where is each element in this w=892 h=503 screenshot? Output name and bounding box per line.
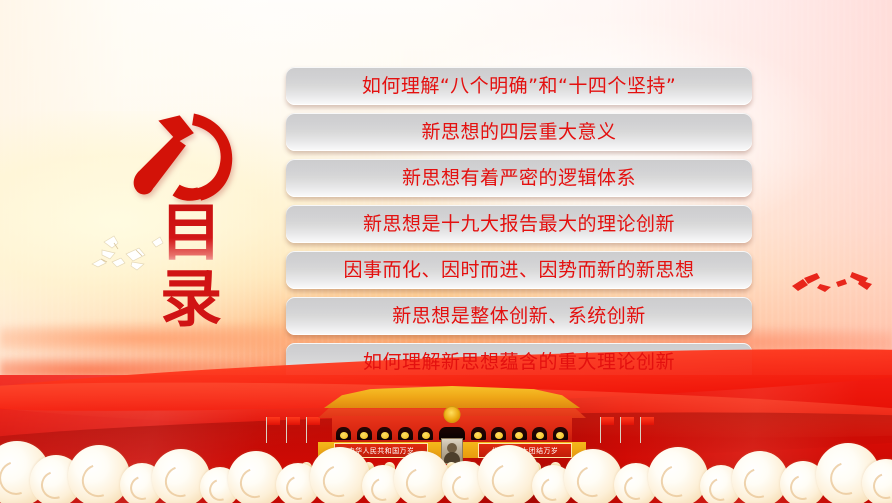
menu-item-label: 因事而化、因时而进、因势而新的新思想 bbox=[343, 259, 694, 281]
menu-item-4[interactable]: 新思想是十九大报告最大的理论创新 bbox=[286, 205, 752, 243]
national-emblem bbox=[444, 406, 461, 423]
menu-item-label: 新思想有着严密的逻辑体系 bbox=[402, 167, 636, 189]
menu-item-label: 如何理解新思想蕴含的重大理论创新 bbox=[363, 351, 675, 373]
menu-item-1[interactable]: 如何理解“八个明确”和“十四个坚持” bbox=[286, 67, 752, 105]
flag-2 bbox=[286, 417, 287, 443]
menu-item-label: 新思想的四层重大意义 bbox=[421, 121, 616, 143]
flag-1 bbox=[306, 417, 307, 443]
menu-item-label: 如何理解“八个明确”和“十四个坚持” bbox=[362, 75, 676, 97]
flag-5 bbox=[620, 417, 621, 443]
gate-arch bbox=[471, 427, 486, 440]
tiananmen-gate: 中华人民共和国万岁 世界人民大团结万岁 bbox=[318, 386, 586, 458]
contents-menu: 如何理解“八个明确”和“十四个坚持” 新思想的四层重大意义 新思想有着严密的逻辑… bbox=[286, 67, 752, 389]
menu-item-label: 新思想是十九大报告最大的理论创新 bbox=[363, 213, 675, 235]
menu-item-6[interactable]: 新思想是整体创新、系统创新 bbox=[286, 297, 752, 335]
menu-item-label: 新思想是整体创新、系统创新 bbox=[392, 305, 646, 327]
menu-item-2[interactable]: 新思想的四层重大意义 bbox=[286, 113, 752, 151]
gate-roof-upper bbox=[324, 386, 580, 408]
gate-arch bbox=[491, 427, 506, 440]
flag-3 bbox=[266, 417, 267, 443]
cpc-hammer-sickle-emblem bbox=[131, 110, 239, 206]
gate-arch bbox=[398, 427, 413, 440]
red-birds bbox=[790, 268, 886, 312]
gate-arch bbox=[553, 427, 568, 440]
page-title-char-1: 目 bbox=[152, 202, 230, 264]
gate-railing bbox=[296, 459, 608, 473]
page-title: 目 录 bbox=[152, 202, 230, 330]
menu-item-5[interactable]: 因事而化、因时而进、因势而新的新思想 bbox=[286, 251, 752, 289]
slogan-left: 中华人民共和国万岁 bbox=[334, 443, 428, 458]
menu-item-3[interactable]: 新思想有着严密的逻辑体系 bbox=[286, 159, 752, 197]
gate-arch bbox=[336, 427, 351, 440]
flag-4 bbox=[600, 417, 601, 443]
gate-arch bbox=[377, 427, 392, 440]
gate-arch bbox=[418, 427, 433, 440]
flag-6 bbox=[640, 417, 641, 443]
gate-arch bbox=[512, 427, 527, 440]
page-title-char-2: 录 bbox=[152, 268, 230, 330]
gate-arch bbox=[357, 427, 372, 440]
slide-canvas: 目 录 如何理解“八个明确”和“十四个坚持” 新思想的四层重大意义 新思想有着严… bbox=[0, 0, 892, 503]
slogan-right: 世界人民大团结万岁 bbox=[478, 443, 572, 458]
gate-arch bbox=[532, 427, 547, 440]
